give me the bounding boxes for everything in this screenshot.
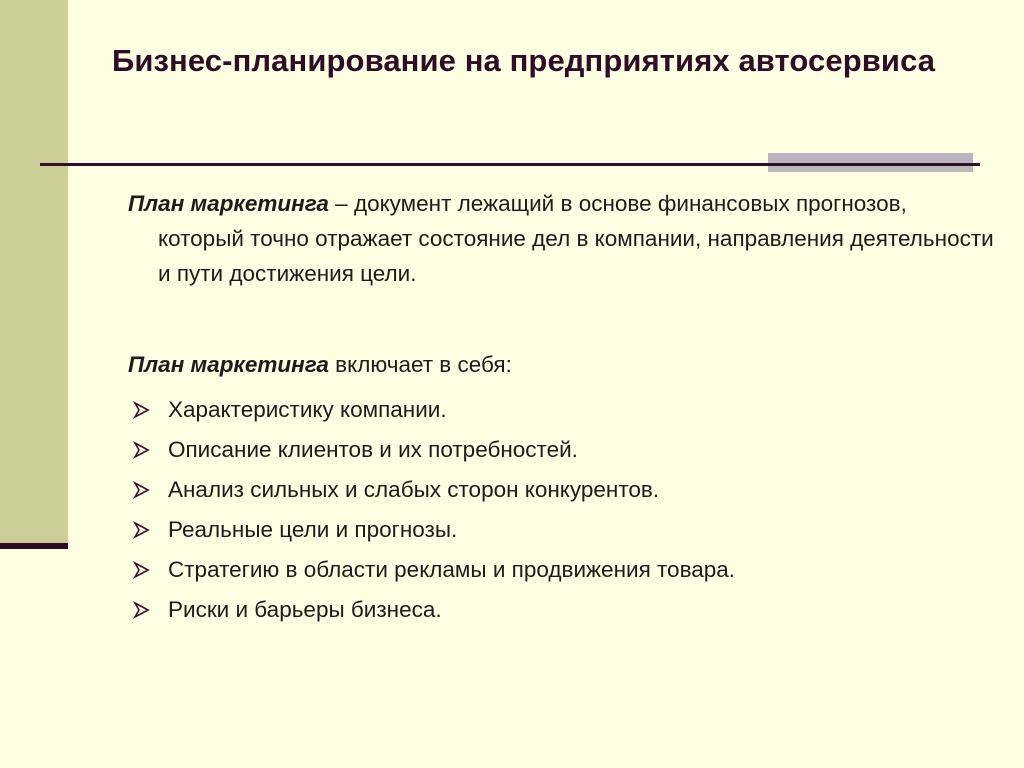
list-item: Описание клиентов и их потребностей. — [128, 437, 988, 463]
arrow-head-bullet-icon — [132, 600, 152, 620]
list-item-label: Риски и барьеры бизнеса. — [168, 597, 442, 622]
slide-canvas: Бизнес-планирование на предприятиях авто… — [0, 0, 1024, 768]
list-item: Реальные цели и прогнозы. — [128, 517, 988, 543]
arrow-head-bullet-icon — [132, 480, 152, 500]
includes-heading-text: включает в себя: — [329, 352, 512, 377]
list-item: Стратегию в области рекламы и продвижени… — [128, 557, 988, 583]
marketing-plan-list: Характеристику компании. Описание клиент… — [128, 382, 988, 623]
list-item-label: Описание клиентов и их потребностей. — [168, 437, 578, 462]
arrow-head-bullet-icon — [132, 440, 152, 460]
arrow-head-bullet-icon — [132, 400, 152, 420]
slide-body: План маркетинга – документ лежащий в осн… — [128, 186, 988, 637]
list-item-label: Анализ сильных и слабых сторон конкурент… — [168, 477, 659, 502]
arrow-head-bullet-icon — [132, 560, 152, 580]
slide-title: Бизнес-планирование на предприятиях авто… — [112, 40, 992, 81]
includes-heading: План маркетинга включает в себя: — [128, 291, 988, 382]
list-item-label: Характеристику компании. — [168, 397, 447, 422]
arrow-head-bullet-icon — [132, 520, 152, 540]
left-accent-strip-cap — [0, 543, 68, 549]
list-item: Риски и барьеры бизнеса. — [128, 597, 988, 623]
list-item: Анализ сильных и слабых сторон конкурент… — [128, 477, 988, 503]
list-item: Характеристику компании. — [128, 397, 988, 423]
definition-lead-term: План маркетинга — [128, 191, 329, 216]
header-gray-block-highlight — [768, 154, 973, 163]
includes-lead-term: План маркетинга — [128, 352, 329, 377]
left-accent-strip — [0, 0, 68, 543]
definition-paragraph: План маркетинга – документ лежащий в осн… — [128, 186, 994, 291]
list-item-label: Стратегию в области рекламы и продвижени… — [168, 557, 735, 582]
header-divider-rule — [40, 163, 980, 166]
list-item-label: Реальные цели и прогнозы. — [168, 517, 457, 542]
